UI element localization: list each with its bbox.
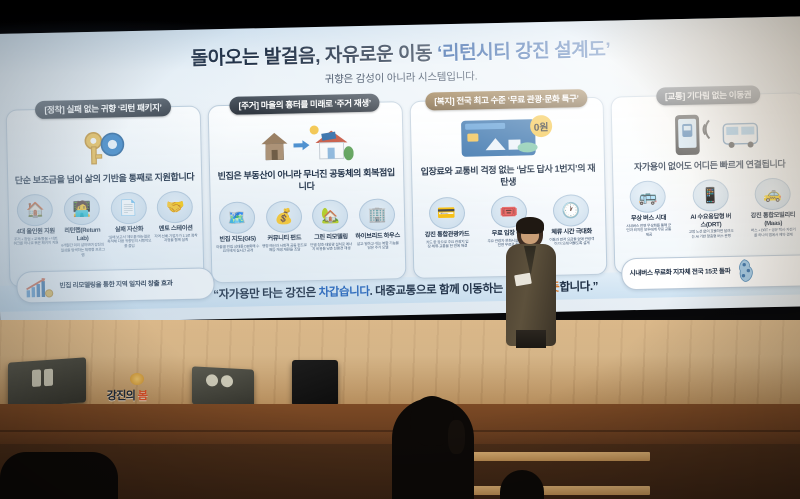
- item-desc: 고정 노선 없이 호출하면 달려오는 AI 기반 맞춤형 버스 운행: [689, 229, 734, 240]
- free-bus-icon: 🚌: [630, 180, 667, 213]
- column-transport: [교통] 기다림 없는 이동권: [611, 92, 800, 274]
- growth-chart-icon: [24, 276, 54, 299]
- key-gear-icon: [7, 120, 201, 176]
- item-desc: 단열·창호·태양광 설치로 에너지 비용을 낮춘 친환경 재생: [309, 242, 354, 253]
- list-item: 🏠 4대 올인원 지원 주거 + 창업 + 교육/돌봄 + 네트워크를 하나로 …: [12, 194, 58, 260]
- item-label: 리턴랩(Return Lab): [60, 227, 105, 243]
- item-label: 4대 올인원 지원: [13, 228, 58, 237]
- house-renovation-icon: [209, 115, 403, 171]
- map-gis-icon: 🗺️: [219, 201, 256, 234]
- item-desc: 행정 예산과 사회적 공동 펀드로 매입·재생 재원을 조달: [262, 243, 307, 254]
- presenter-speaker: [500, 218, 562, 346]
- callout-growth: 빈집 리모델링을 통한 지역 일자리 창출 효과: [16, 267, 215, 303]
- column-items: 🗺️ 빈집 지도(GIS) 마을별 빈집 상태를 DB화해 수요자에게 실시간 …: [210, 198, 404, 255]
- slide-columns: [정착] 실패 없는 귀향 ‘리턴 패키지’ 단순 보조금을 넘어 삶의 기반을…: [6, 92, 800, 299]
- presenter-legs: [516, 330, 546, 348]
- stage-monitor: [192, 366, 254, 407]
- list-item: 💰 커뮤니티 펀드 행정 예산과 사회적 공동 펀드로 매입·재생 재원을 조달: [261, 200, 307, 253]
- flower-decoration: [130, 373, 144, 385]
- mobility-app-icon: 🚕: [754, 178, 791, 211]
- callout-free-bus: 시내버스 무료화 지자체 전국 15곳 돌파: [621, 254, 800, 290]
- item-label: 하이브리드 하우스: [355, 232, 400, 241]
- item-desc: 주거 + 창업 + 교육/돌봄 + 네트워크를 하나로 묶은 패키지 지원: [13, 236, 58, 247]
- column-badge: [복지] 전국 최고 수준 ‘무료 관광·문화 특구’: [425, 89, 588, 111]
- callout-text: 빈집 리모델링을 통한 지역 일자리 창출 효과: [59, 280, 172, 291]
- tour-card-icon: 💳: [428, 197, 465, 230]
- projection-screen: 돌아오는 발걸음, 자유로운 이동 ‘리턴시티 강진 설계도’ 귀향은 감성이 …: [0, 16, 800, 324]
- bench-rail: [470, 452, 650, 461]
- community-support-icon: 🏠: [17, 194, 54, 227]
- item-desc: 6개월간 미리 살아보며 강진의 일상을 탐색하는 체류형 프로그램: [60, 243, 105, 258]
- stage-speaker-cabinet: [292, 360, 338, 406]
- callout-text: 시내버스 무료화 지자체 전국 15곳 돌파: [630, 268, 731, 279]
- drt-phone-icon: 📱: [692, 179, 729, 212]
- sign-text-accent: 봄: [138, 390, 148, 402]
- zero-won-card-icon: 0원: [410, 111, 604, 167]
- column-badge: [교통] 기다림 없는 이동권: [656, 85, 761, 105]
- column-items: 🏠 4대 올인원 지원 주거 + 창업 + 교육/돌봄 + 네트워크를 하나로 …: [9, 190, 203, 259]
- monitor-grill: [221, 375, 233, 388]
- item-desc: 지역 선배·기업가가 1:1로 정착 과정을 함께 설계: [153, 233, 198, 244]
- item-label: 빈집 지도(GIS): [215, 235, 260, 244]
- presenter-hair: [516, 217, 544, 234]
- list-item: 🏢 하이브리드 하우스 살고·일하고·쉬는 복합 기능을 담은 주거 모델: [354, 198, 400, 251]
- list-item: 🧑‍💻 리턴랩(Return Lab) 6개월간 미리 살아보며 강진의 일상을…: [59, 193, 105, 259]
- hybrid-house-icon: 🏢: [359, 198, 396, 231]
- column-items: 🚌 무상 버스 시대 시내버스 전면 무상화를 통해 군민과 외지인 모두에게 …: [614, 177, 800, 241]
- list-item: 🚕 강진 통합모빌리티(Maas) 버스 + DRT + 공유 택시·자전거를 …: [750, 177, 796, 238]
- korea-map-icon: [735, 258, 758, 284]
- list-item: 💳 강진 통합관광카드 카드 한 장으로 주요 관광지 입장·체류·교통을 한 …: [424, 196, 470, 249]
- item-label: 그린 리모델링: [308, 233, 353, 242]
- list-item: 🚌 무상 버스 시대 시내버스 전면 무상화를 통해 군민과 외지인 모두에게 …: [625, 180, 671, 241]
- conference-photo: 돌아오는 발걸음, 자유로운 이동 ‘리턴시티 강진 설계도’ 귀향은 감성이 …: [0, 0, 800, 499]
- column-badge: [주거] 마을의 흉터를 미래로 ‘주거 재생’: [229, 94, 380, 115]
- item-desc: 살고·일하고·쉬는 복합 기능을 담은 주거 모델: [355, 241, 400, 252]
- item-desc: 카드 한 장으로 주요 관광지 입장·체류·교통을 한 번에 해결: [425, 239, 470, 250]
- list-item: 📱 AI 수요응답형 버스(DRT) 고정 노선 없이 호출하면 달려오는 AI…: [687, 179, 733, 240]
- svg-text:0원: 0원: [534, 120, 549, 133]
- slide-header: 돌아오는 발걸음, 자유로운 이동 ‘리턴시티 강진 설계도’ 귀향은 감성이 …: [0, 30, 800, 94]
- item-label: 강진 통합관광카드: [425, 230, 470, 239]
- column-tagline: 입장료와 교통비 걱정 없는 ‘남도 답사 1번지’의 재탄생: [411, 163, 604, 191]
- list-item: 🗺️ 빈집 지도(GIS) 마을별 빈집 상태를 DB화해 수요자에게 실시간 …: [214, 201, 260, 254]
- item-desc: 버스 + DRT + 공유 택시·자전거를 하나의 앱에서 예약·결제: [751, 228, 796, 239]
- bench-rail: [470, 486, 650, 495]
- item-label: 커뮤니티 펀드: [262, 234, 307, 243]
- item-label: 무상 버스 시대: [626, 214, 671, 223]
- return-lab-icon: 🧑‍💻: [64, 193, 101, 226]
- list-item: 🤝 멘토 스테이션 지역 선배·기업가가 1:1로 정착 과정을 함께 설계: [152, 190, 198, 256]
- list-item: 🏡 그린 리모델링 단열·창호·태양광 설치로 에너지 비용을 낮춘 친환경 재…: [308, 199, 354, 252]
- item-desc: 시내버스 전면 무상화를 통해 군민과 외지인 모두에게 무료 교통 제공: [626, 223, 671, 238]
- item-label: 멘토 스테이션: [153, 224, 198, 233]
- monitor-grill: [44, 369, 53, 387]
- stage-sign-text: 강진의 봄: [107, 387, 148, 403]
- item-label: 실패 자산화: [106, 225, 151, 234]
- item-label: 강진 통합모빌리티(Maas): [750, 211, 795, 227]
- column-tagline: 빈집은 부동산이 아니라 무너진 공동체의 회복점입니다: [210, 167, 403, 195]
- green-remodel-icon: 🏡: [312, 199, 349, 232]
- column-badge: [정착] 실패 없는 귀향 ‘리턴 패키지’: [35, 98, 171, 119]
- item-label: AI 수요응답형 버스(DRT): [688, 213, 733, 229]
- handshake-icon: 🤝: [157, 191, 194, 224]
- failure-asset-icon: 📄: [110, 192, 147, 225]
- slide-title-highlight: ‘리턴시티 강진 설계도’: [437, 40, 611, 65]
- column-settlement: [정착] 실패 없는 귀향 ‘리턴 패키지’ 단순 보조금을 넘어 삶의 기반을…: [6, 106, 205, 288]
- item-desc: 마을별 빈집 상태를 DB화해 수요자에게 실시간 공개: [215, 244, 260, 255]
- monitor-grill: [32, 369, 41, 387]
- audience-silhouette: [0, 452, 118, 499]
- item-desc: ‘실패 보고서’ 제도를 매뉴얼로 축적해 다음 귀향인의 시행착오를 줄임: [107, 234, 152, 249]
- slide-title-main: 돌아오는 발걸음, 자유로운 이동: [191, 43, 438, 69]
- column-housing: [주거] 마을의 흉터를 미래로 ‘주거 재생’: [207, 101, 406, 283]
- community-fund-icon: 💰: [265, 200, 302, 233]
- monitor-grill: [206, 374, 218, 387]
- list-item: 📄 실패 자산화 ‘실패 보고서’ 제도를 매뉴얼로 축적해 다음 귀향인의 시…: [106, 191, 152, 257]
- audience-hair: [448, 420, 465, 454]
- bus-app-icon: [612, 106, 800, 162]
- sign-text-main: 강진의: [107, 390, 138, 402]
- stage-monitor: [8, 357, 86, 407]
